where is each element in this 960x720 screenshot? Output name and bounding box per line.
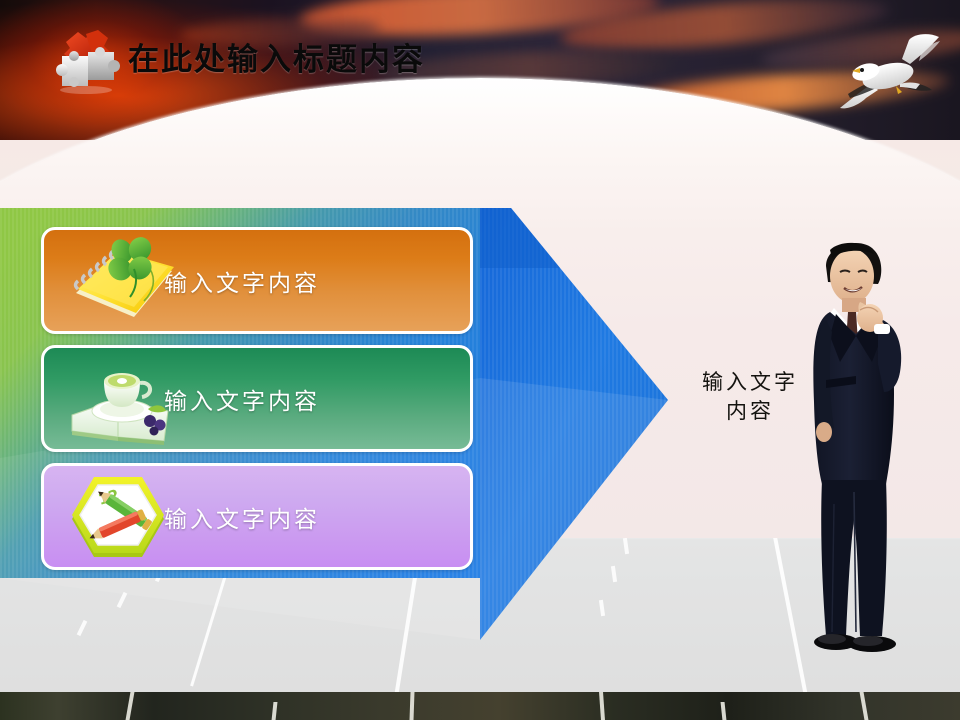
asphalt-strip bbox=[0, 692, 960, 720]
teacup-book-icon bbox=[64, 353, 182, 445]
puzzle-piece-icon bbox=[48, 26, 126, 98]
content-box-label: 输入文字内容 bbox=[164, 382, 320, 416]
content-box-label: 输入文字内容 bbox=[164, 264, 320, 298]
content-box-3[interactable]: 12 输入文字内容 bbox=[41, 463, 473, 570]
notebook-clover-icon bbox=[64, 235, 182, 327]
seagull-icon bbox=[836, 32, 948, 118]
slide-canvas: 在此处输入标题内容 bbox=[0, 0, 960, 720]
businessman-figure bbox=[800, 232, 950, 662]
hexagon-clock-pencils-icon: 12 bbox=[64, 471, 182, 563]
content-box-1[interactable]: 输入文字内容 bbox=[41, 227, 473, 334]
content-box-label: 输入文字内容 bbox=[164, 500, 320, 534]
content-box-2[interactable]: 输入文字内容 bbox=[41, 345, 473, 452]
page-title: 在此处输入标题内容 bbox=[128, 34, 425, 79]
